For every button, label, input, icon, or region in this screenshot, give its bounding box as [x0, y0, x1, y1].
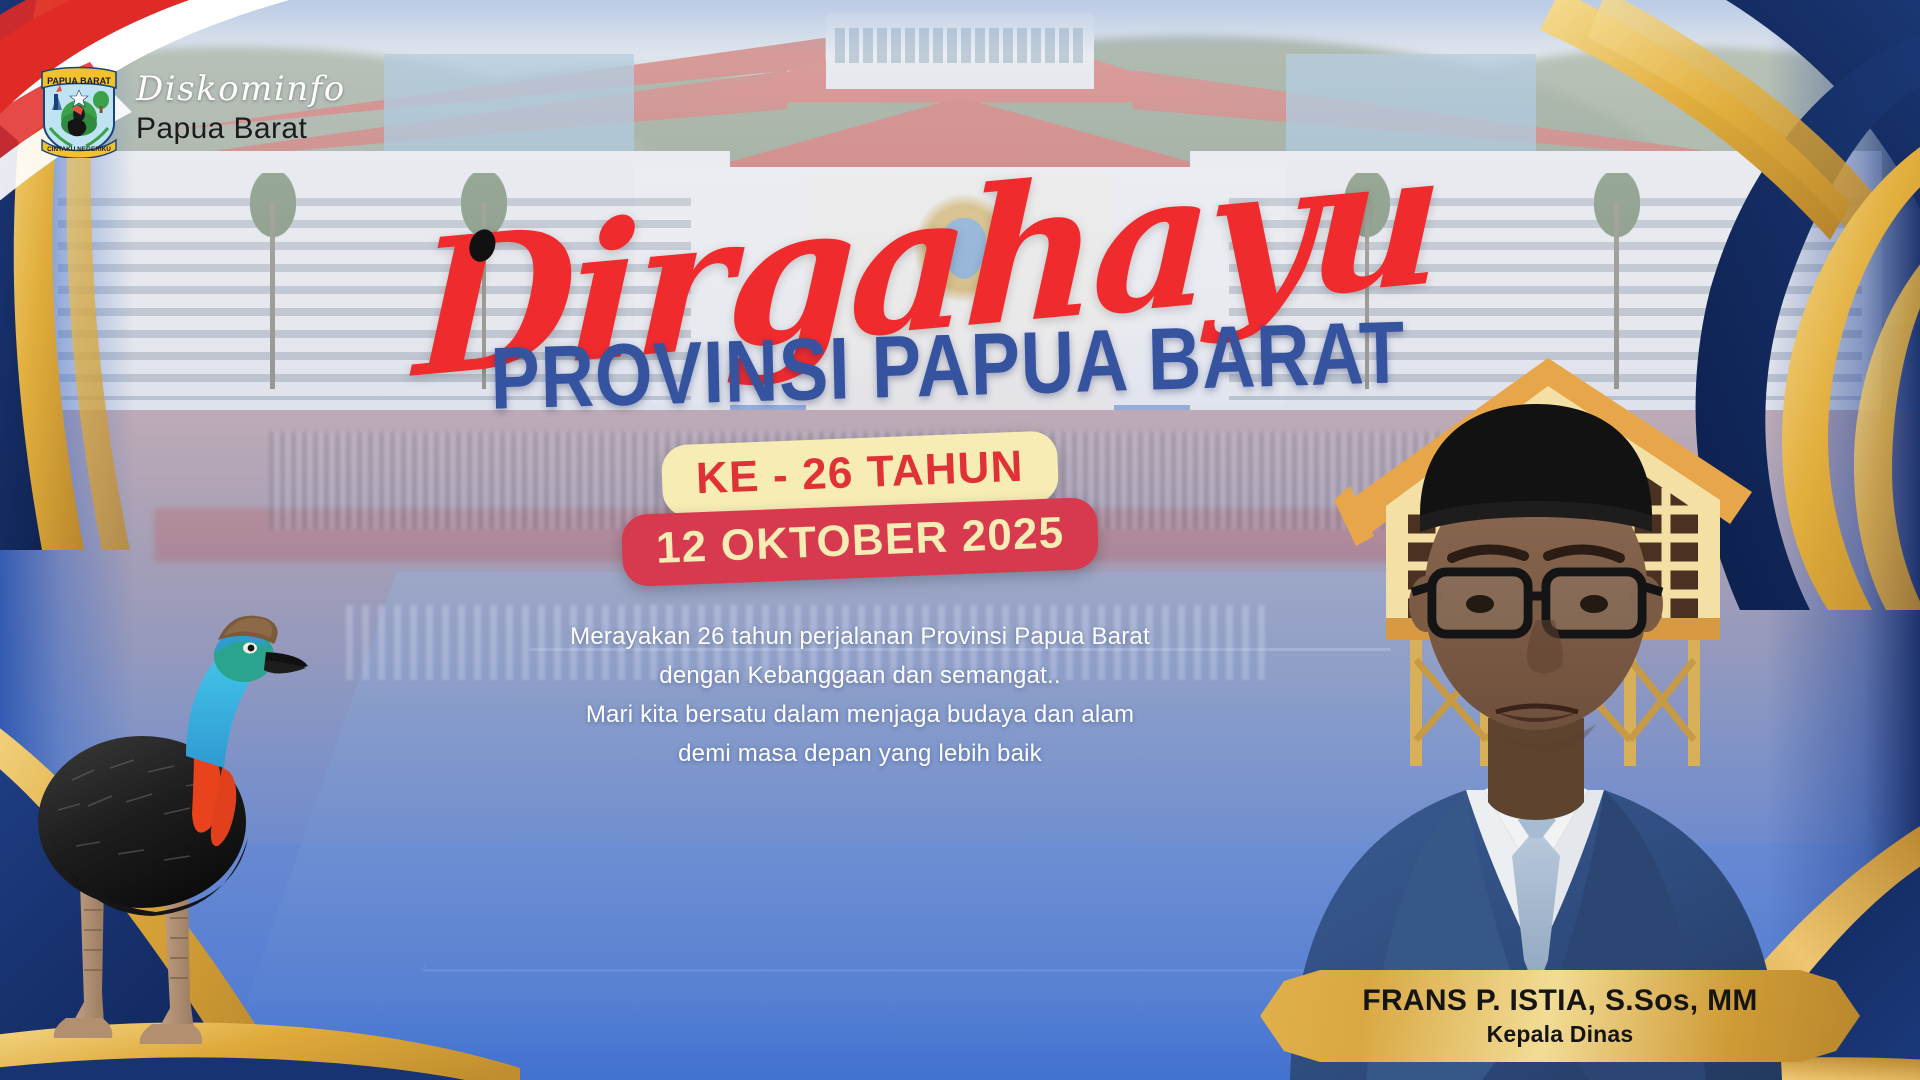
svg-text:CINTAKU NEGERIKU: CINTAKU NEGERIKU — [47, 146, 111, 153]
name-plaque: FRANS P. ISTIA, S.Sos, MM Kepala Dinas — [1260, 970, 1860, 1062]
dirgahayu-poster: PAPUA BARAT CINTAKU NEGERIKU Diskominfo — [0, 0, 1920, 1080]
official-name: FRANS P. ISTIA, S.Sos, MM — [1362, 984, 1757, 1018]
logo-line-diskominfo: Diskominfo — [136, 72, 346, 106]
blurb-line-2: dengan Kebanggaan dan semangat.. — [420, 657, 1300, 696]
badge-group: KE - 26 TAHUN 12 OKTOBER 2025 — [420, 438, 1300, 578]
blurb-line-1: Merayakan 26 tahun perjalanan Provinsi P… — [420, 618, 1300, 657]
page-title: PROVINSI PAPUA BARAT — [490, 313, 1231, 422]
logo-text-block: Diskominfo Papua Barat — [136, 72, 346, 148]
blurb-line-3: Mari kita bersatu dalam menjaga budaya d… — [420, 696, 1300, 735]
official-portrait-icon — [1270, 320, 1800, 1080]
logo-line-papua-barat: Papua Barat — [136, 110, 346, 148]
papua-barat-coat-of-arms-icon: PAPUA BARAT CINTAKU NEGERIKU — [38, 62, 120, 158]
center-content: Dirgahayu PROVINSI PAPUA BARAT KE - 26 T… — [420, 190, 1300, 773]
diskominfo-logo: PAPUA BARAT CINTAKU NEGERIKU Diskominfo — [38, 62, 346, 158]
blurb-line-4: demi masa depan yang lebih baik — [420, 735, 1300, 774]
cassowary-bird-icon — [18, 610, 348, 1060]
description-text: Merayakan 26 tahun perjalanan Provinsi P… — [420, 618, 1300, 774]
svg-text:PAPUA BARAT: PAPUA BARAT — [47, 76, 111, 86]
official-role: Kepala Dinas — [1487, 1021, 1634, 1048]
